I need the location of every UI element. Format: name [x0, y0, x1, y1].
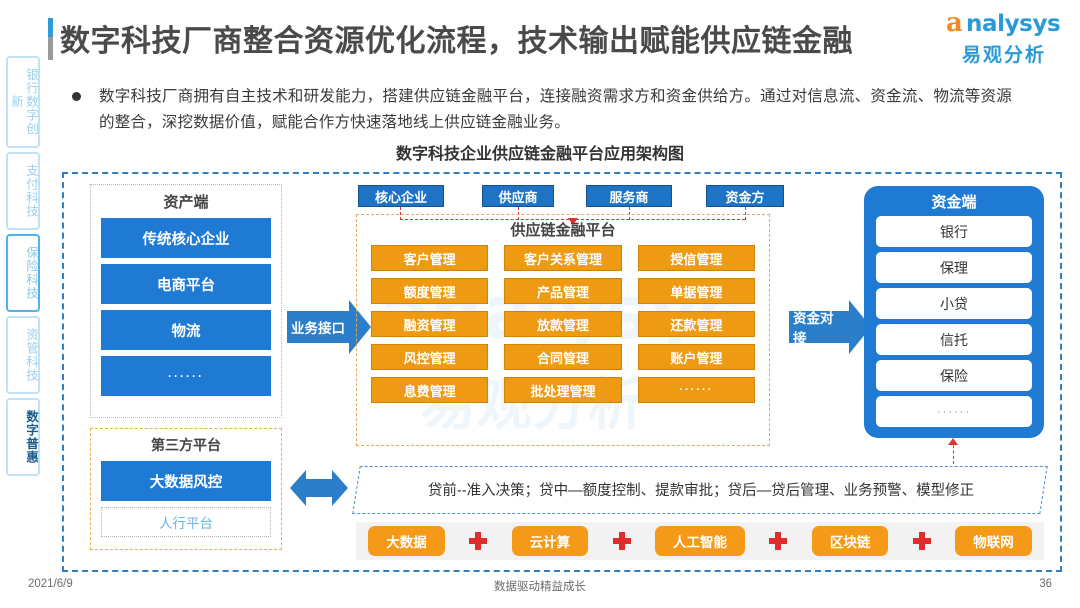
plus-icon	[469, 532, 487, 550]
module-risk-control[interactable]: 风控管理	[371, 344, 488, 370]
footer-page-number: 36	[1039, 578, 1052, 590]
role-tag-fund-provider[interactable]: 资金方	[706, 185, 784, 207]
asset-item-ecommerce-platform[interactable]: 电商平台	[101, 264, 271, 304]
module-customer-management[interactable]: 客户管理	[371, 245, 488, 271]
third-party-panel-title: 第三方平台	[91, 435, 281, 455]
bullet-text: 数字科技厂商拥有自主技术和研发能力，搭建供应链金融平台，连接融资需求方和资金供给…	[99, 84, 1012, 136]
asset-item-traditional-core-enterprise[interactable]: 传统核心企业	[101, 218, 271, 258]
module-credit-granting[interactable]: 授信管理	[638, 245, 755, 271]
logo-mark-icon: a	[946, 10, 963, 36]
plus-icon	[913, 532, 931, 550]
sidebar-item-label: 支付科技	[23, 164, 38, 218]
asset-panel-title: 资产端	[91, 191, 281, 212]
tech-pill-ai[interactable]: 人工智能	[655, 526, 745, 556]
plus-icon	[769, 532, 787, 550]
module-contract-management[interactable]: 合同管理	[504, 344, 621, 370]
asset-item-logistics[interactable]: 物流	[101, 310, 271, 350]
module-loan-disbursement[interactable]: 放款管理	[504, 311, 621, 337]
slide-page: 数字科技厂商整合资源优化流程，技术输出赋能供应链金融 a nalysys 易观分…	[0, 0, 1080, 608]
connector-arrow-up-icon	[948, 438, 958, 445]
sidebar-item-digital-inclusive-finance[interactable]: 数字普惠	[6, 398, 40, 476]
bullet-paragraph: 数字科技厂商拥有自主技术和研发能力，搭建供应链金融平台，连接融资需求方和资金供给…	[72, 84, 1012, 136]
funding-side-panel: 资金端 银行 保理 小贷 信托 保险 ······	[864, 186, 1044, 438]
funding-item-microloan[interactable]: 小贷	[876, 288, 1032, 319]
supply-chain-finance-platform: 供应链金融平台 客户管理 客户关系管理 授信管理 额度管理 产品管理 单据管理 …	[356, 214, 770, 446]
sidebar-item-asset-management-tech[interactable]: 资管科技	[6, 316, 40, 394]
asset-side-panel: 资产端 传统核心企业 电商平台 物流 ······	[90, 184, 282, 418]
bullet-dot-icon	[72, 92, 81, 101]
sidebar-item-label: 银行数字创新	[8, 64, 38, 139]
module-batch-processing[interactable]: 批处理管理	[504, 377, 621, 403]
tech-pill-cloud-computing[interactable]: 云计算	[512, 526, 589, 556]
third-party-item-pboc-platform[interactable]: 人行平台	[101, 507, 271, 537]
module-more[interactable]: ······	[638, 377, 755, 403]
sidebar-item-insurance-tech[interactable]: 保险科技	[6, 234, 40, 312]
third-party-panel: 第三方平台 大数据风控 人行平台	[90, 428, 282, 550]
platform-title: 供应链金融平台	[357, 219, 769, 240]
role-tag-core-enterprise[interactable]: 核心企业	[358, 185, 444, 207]
fund-connection-arrow: 资金对接	[789, 300, 871, 354]
module-repayment-management[interactable]: 还款管理	[638, 311, 755, 337]
funding-item-insurance[interactable]: 保险	[876, 360, 1032, 391]
funding-panel-title: 资金端	[876, 191, 1032, 212]
platform-module-grid: 客户管理 客户关系管理 授信管理 额度管理 产品管理 单据管理 融资管理 放款管…	[357, 245, 769, 403]
module-quota-management[interactable]: 额度管理	[371, 278, 488, 304]
sidebar-item-label: 保险科技	[23, 246, 38, 300]
funding-item-bank[interactable]: 银行	[876, 216, 1032, 247]
sidebar-item-label: 数字普惠	[23, 410, 38, 464]
module-account-management[interactable]: 账户管理	[638, 344, 755, 370]
fund-connection-label: 资金对接	[789, 311, 849, 343]
sidebar-item-bank-digital-innovation[interactable]: 银行数字创新	[6, 56, 40, 148]
module-document-management[interactable]: 单据管理	[638, 278, 755, 304]
funding-item-factoring[interactable]: 保理	[876, 252, 1032, 283]
tech-pill-iot[interactable]: 物联网	[955, 526, 1032, 556]
analysys-logo: a nalysys 易观分析	[944, 10, 1064, 67]
funding-item-more[interactable]: ······	[876, 396, 1032, 427]
role-tag-service-provider[interactable]: 服务商	[586, 185, 672, 207]
sidebar-item-label: 资管科技	[23, 328, 38, 382]
arrow-head-left-icon	[290, 470, 306, 506]
title-accent-bar	[48, 18, 53, 60]
module-product-management[interactable]: 产品管理	[504, 278, 621, 304]
page-title: 数字科技厂商整合资源优化流程，技术输出赋能供应链金融	[60, 16, 853, 60]
arrow-shaft	[306, 479, 332, 497]
role-tag-supplier[interactable]: 供应商	[482, 185, 554, 207]
module-interest-fee[interactable]: 息费管理	[371, 377, 488, 403]
slide-footer: 2021/6/9 数据驱动精益成长 36	[0, 578, 1080, 600]
technology-stack-band: 大数据 云计算 人工智能 区块链 物联网	[356, 522, 1044, 560]
funding-item-trust[interactable]: 信托	[876, 324, 1032, 355]
third-party-item-bigdata-riskcontrol[interactable]: 大数据风控	[101, 461, 271, 501]
sidebar-tabs: 银行数字创新 支付科技 保险科技 资管科技 数字普惠	[6, 56, 40, 480]
logo-chinese-name: 易观分析	[944, 40, 1064, 67]
bidirectional-arrow-icon	[290, 470, 348, 506]
logo-wordmark: nalysys	[966, 11, 1060, 37]
module-crm[interactable]: 客户关系管理	[504, 245, 621, 271]
module-financing-management[interactable]: 融资管理	[371, 311, 488, 337]
tech-pill-blockchain[interactable]: 区块链	[812, 526, 889, 556]
asset-item-more[interactable]: ······	[101, 356, 271, 396]
footer-slogan: 数据驱动精益成长	[0, 578, 1080, 594]
loan-lifecycle-text: 贷前--准入决策；贷中—额度控制、提款审批；贷后—贷后管理、业务预警、模型修正	[366, 468, 1036, 514]
architecture-caption: 数字科技企业供应链金融平台应用架构图	[0, 140, 1080, 164]
sidebar-item-payment-tech[interactable]: 支付科技	[6, 152, 40, 230]
business-interface-label: 业务接口	[287, 311, 349, 343]
tech-pill-bigdata[interactable]: 大数据	[368, 526, 445, 556]
plus-icon	[613, 532, 631, 550]
arrow-head-right-icon	[332, 470, 348, 506]
